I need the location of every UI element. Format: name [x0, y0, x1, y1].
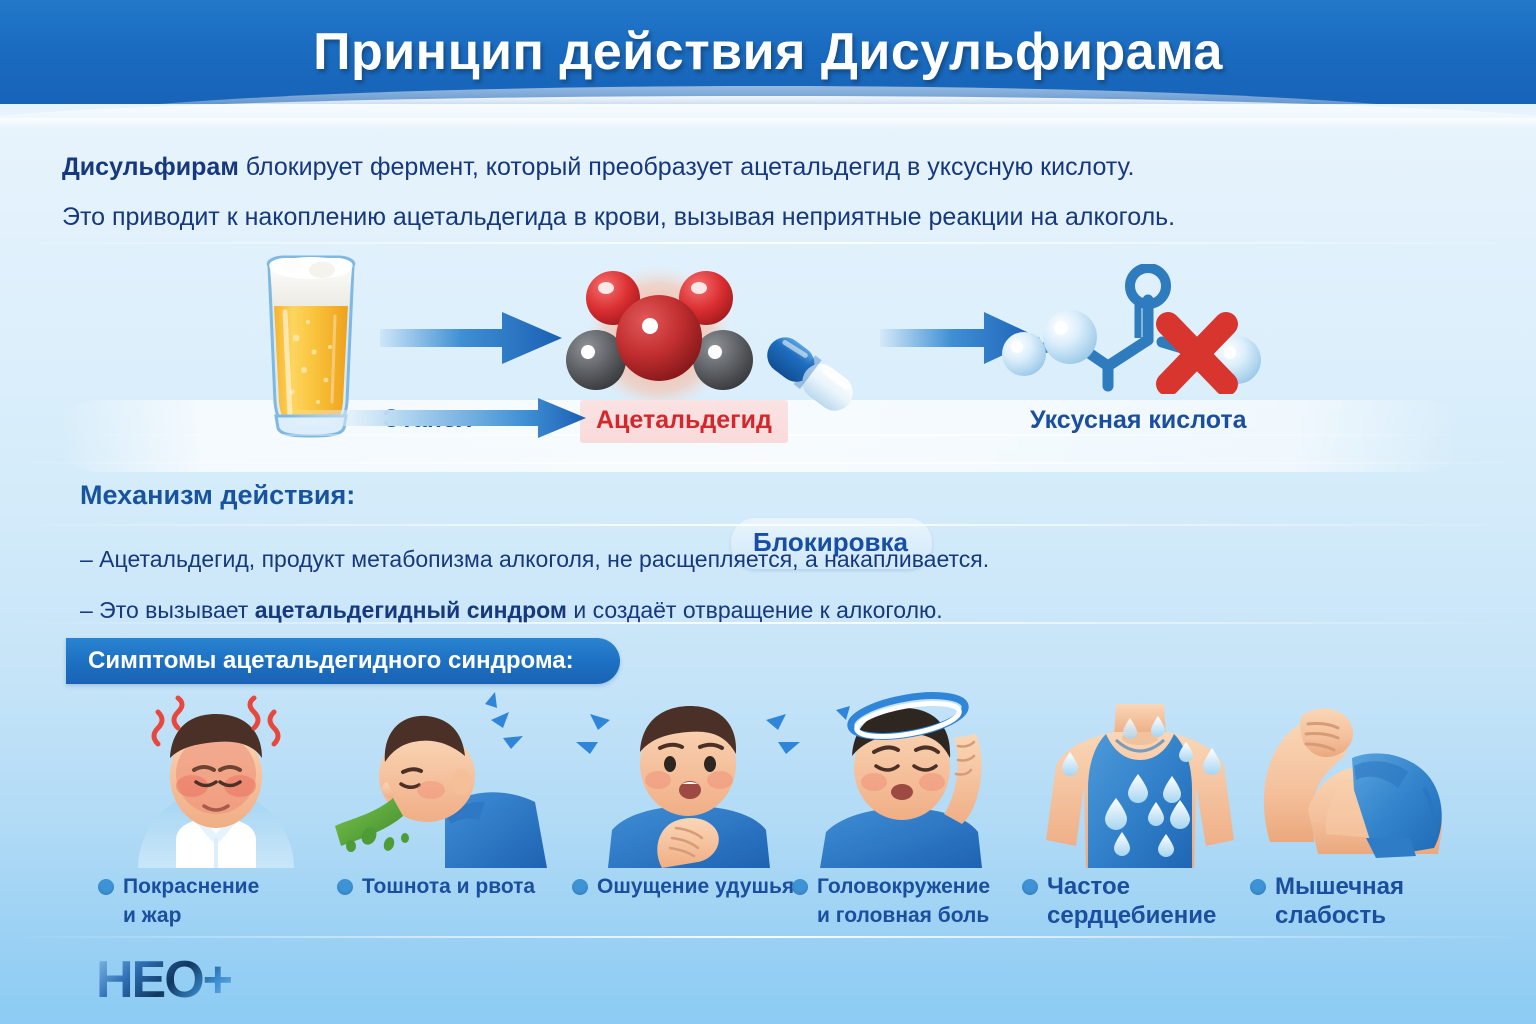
- intro-drug-name: Дисульфирам: [62, 153, 239, 181]
- flushed-face-icon: [96, 690, 336, 868]
- symptom-caption: Тошнота и рвота: [337, 872, 587, 901]
- symptom-item[interactable]: Мышечная слабость: [1248, 690, 1488, 940]
- symptoms-banner: Симптомы ацетальдегидного синдрома:: [66, 638, 620, 684]
- symptom-item[interactable]: Ошущение удушья: [570, 690, 810, 940]
- blue-arrow-icon: [286, 398, 586, 438]
- bullet-dot-icon: [1250, 879, 1266, 895]
- intro-line-1-rest: блокирует фермент, который преобразует а…: [239, 153, 1135, 181]
- sweating-torso-icon: [1020, 690, 1260, 868]
- mechanism-bullet-2: – Это вызывает ацетальдегидный синдром и…: [80, 597, 943, 624]
- dizzy-person-icon: [790, 690, 1030, 868]
- symptom-caption: Мышечная слабость: [1250, 872, 1500, 930]
- vomiting-person-icon: [335, 690, 575, 868]
- symptom-caption: Ошущение удушья: [572, 872, 822, 901]
- symptom-item[interactable]: Головокружение и головная боль: [790, 690, 1030, 940]
- symptom-label: Тошнота и рвота: [362, 872, 535, 901]
- symptom-item[interactable]: Тошнота и рвота: [335, 690, 575, 940]
- divider-above-mechanism: [0, 462, 1536, 464]
- mechanism-bullet-2-highlight: ацетальдегидный синдром: [255, 597, 567, 623]
- blue-arrow-icon: [380, 310, 562, 366]
- intro-line-2: Это приводит к накоплению ацетальдегида …: [62, 192, 1482, 242]
- intro-block: Дисульфирам блокирует фермент, который п…: [62, 142, 1482, 242]
- symptom-item[interactable]: Частое сердцебиение: [1020, 690, 1260, 940]
- bullet-dot-icon: [572, 879, 588, 895]
- divider-above-logo: [0, 936, 1536, 938]
- symptom-label: Покраснение и жар: [123, 872, 259, 930]
- divider-under-intro: [0, 242, 1536, 244]
- mechanism-bullet-1: – Ацетальдегид, продукт метабопизма алко…: [80, 546, 989, 573]
- symptom-label: Мышечная слабость: [1275, 872, 1404, 930]
- page-title: Принцип действия Дисульфирама: [0, 0, 1536, 104]
- intro-line-1: Дисульфирам блокирует фермент, который п…: [62, 142, 1482, 192]
- symptom-caption: Головокружение и головная боль: [792, 872, 1042, 930]
- acetaldehyde-label: Ацетальдегид: [580, 400, 788, 443]
- acetaldehyde-molecule-icon: [556, 256, 762, 414]
- symptom-caption: Частое сердцебиение: [1022, 872, 1272, 930]
- infographic-page: Принцип действия Дисульфирама Дисульфира…: [0, 0, 1536, 1024]
- symptom-caption: Покраснение и жар: [98, 872, 348, 930]
- symptoms-row: Покраснение и жар: [0, 690, 1536, 940]
- mechanism-bullet-2-pre: – Это вызывает: [80, 597, 255, 623]
- symptom-label: Частое сердцебиение: [1047, 872, 1216, 930]
- acetic-acid-label: Уксусная кислота: [1030, 406, 1247, 435]
- bullet-dot-icon: [1022, 879, 1038, 895]
- page-header: Принцип действия Дисульфирама: [0, 0, 1536, 104]
- bullet-dot-icon: [337, 879, 353, 895]
- choking-person-icon: [570, 690, 810, 868]
- symptom-item[interactable]: Покраснение и жар: [96, 690, 336, 940]
- flexed-arm-icon: [1248, 690, 1488, 868]
- symptom-label: Головокружение и головная боль: [817, 872, 990, 930]
- divider-above-symptoms: [0, 622, 1536, 624]
- mechanism-title: Механизм действия:: [80, 480, 355, 511]
- divider-under-mechanism-title: [0, 524, 1536, 526]
- bullet-dot-icon: [98, 879, 114, 895]
- brand-logo: НЕО+: [96, 950, 231, 1010]
- bullet-dot-icon: [792, 879, 808, 895]
- symptom-label: Ошущение удушья: [597, 872, 794, 901]
- symptoms-banner-label: Симптомы ацетальдегидного синдрома:: [88, 647, 574, 675]
- acetic-acid-molecule-icon: [990, 264, 1280, 394]
- mechanism-bullet-2-post: и создаёт отвращение к алкоголю.: [567, 597, 943, 623]
